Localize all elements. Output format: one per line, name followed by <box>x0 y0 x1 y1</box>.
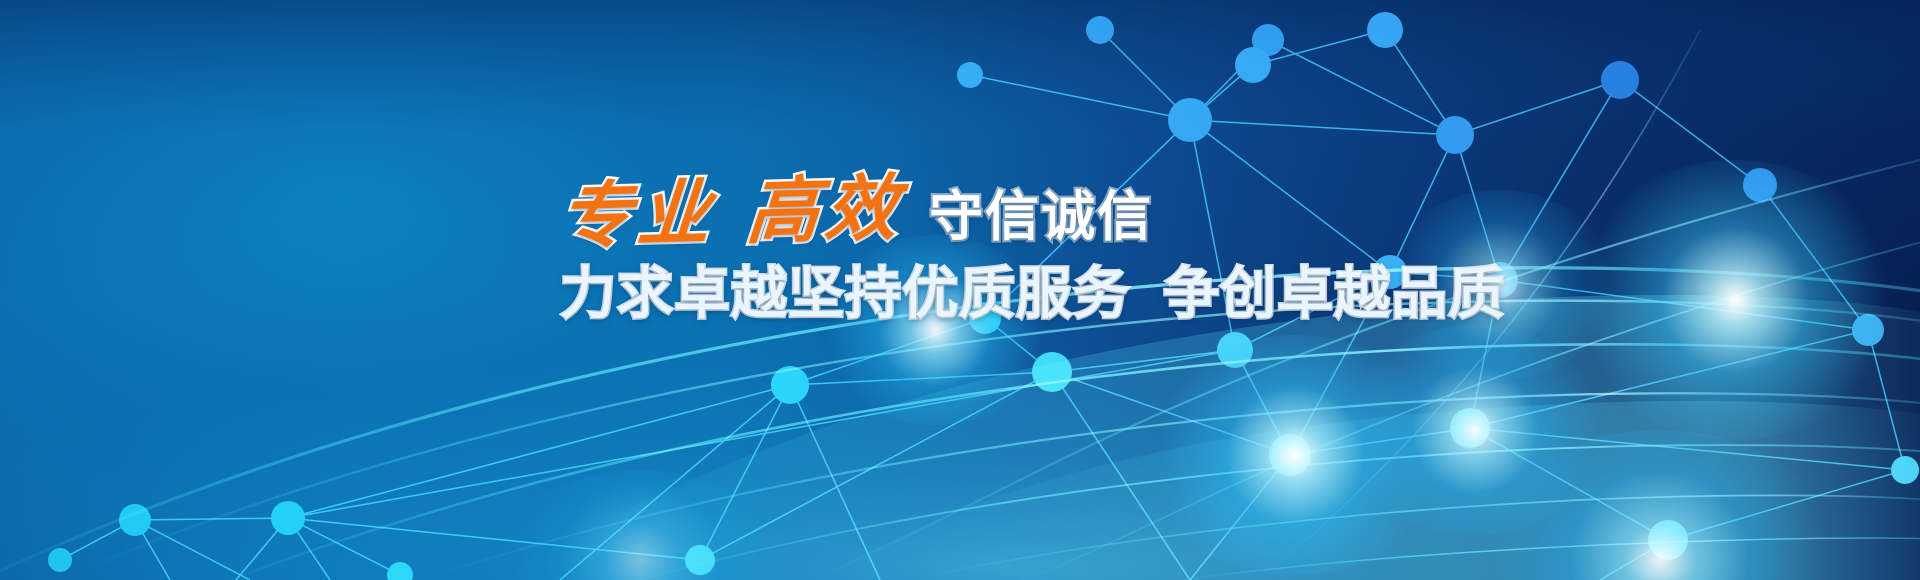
network-node <box>1217 332 1253 368</box>
network-node <box>1168 98 1212 142</box>
network-node <box>1367 12 1403 48</box>
network-node <box>1852 314 1884 346</box>
slogan-second-line: 力求卓越坚持优质服务 争创卓越品质 <box>560 264 1430 324</box>
network-node <box>1648 520 1688 560</box>
network-node <box>1269 434 1311 476</box>
hero-banner: 专业 高效 守信诚信 力求卓越坚持优质服务 争创卓越品质 <box>0 0 1920 580</box>
network-node <box>1601 61 1639 99</box>
network-node <box>771 366 809 404</box>
network-node <box>48 548 72 572</box>
network-node <box>387 562 413 580</box>
network-node <box>685 545 715 575</box>
headline-line-1: 专业 高效 守信诚信 <box>560 160 1430 248</box>
network-node <box>1032 352 1072 392</box>
network-node <box>1743 168 1777 202</box>
network-node <box>271 501 305 535</box>
banner-headline: 专业 高效 守信诚信 力求卓越坚持优质服务 争创卓越品质 <box>560 160 1430 324</box>
network-node <box>1436 116 1474 154</box>
slogan-brush-text: 专业 高效 <box>557 172 907 253</box>
network-node <box>119 504 151 536</box>
network-node <box>1450 408 1490 448</box>
network-node <box>957 62 983 88</box>
slogan-sub-text: 守信诚信 <box>929 190 1153 244</box>
network-node <box>1891 456 1919 484</box>
network-node <box>1086 16 1114 44</box>
network-node <box>1235 47 1271 83</box>
